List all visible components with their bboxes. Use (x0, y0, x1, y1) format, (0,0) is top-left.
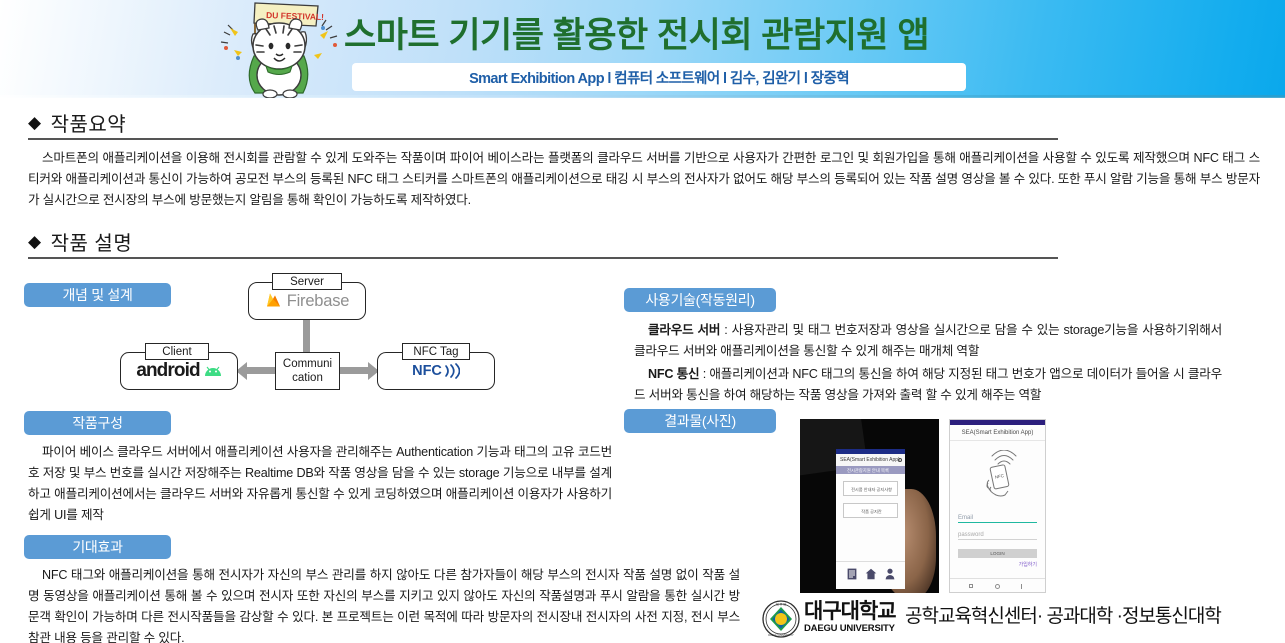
photo1-button-works[interactable]: 작품 공지란 (843, 503, 898, 518)
communication-line2: cation (292, 372, 323, 384)
poster-header: DU FESTIVAL! (0, 0, 1285, 97)
mascot-tiger-icon: DU FESTIVAL! (208, 0, 360, 98)
diagram-arrow-right (340, 367, 368, 374)
photo2-password-field[interactable]: password (958, 532, 1037, 540)
diamond-bullet-icon: ◆ (28, 114, 42, 131)
photo2-password-placeholder: password (958, 532, 1037, 539)
recents-icon[interactable] (1021, 584, 1022, 589)
subtitle-bar: Smart Exhibition App l 컴퓨터 소프트웨어 l 김수, 김… (352, 63, 966, 91)
firebase-icon (265, 292, 282, 311)
used-tech-term-1: 클라우드 서버 (648, 323, 720, 337)
footer-departments: 공학교육혁신센터· 공과대학 ·정보통신대학 (905, 601, 1221, 628)
nfc-waves-icon (443, 363, 460, 379)
photo2-email-placeholder: Email (958, 515, 1037, 522)
label-results-photo: 결과물(사진) (624, 409, 776, 433)
footer-university-name-en: DAEGU UNIVERSITY (804, 623, 895, 634)
used-tech-item-1: 클라우드 서버 : 사용자관리 및 태그 번호저장과 영상을 실시간으로 담을 … (634, 320, 1222, 362)
expected-effect-paragraph: NFC 태그와 애플리케이션을 통해 전시자가 자신의 부스 관리를 하지 않아… (28, 565, 740, 643)
diagram-node-client-label: android (136, 360, 199, 382)
diagram-cap-server: Server (272, 273, 342, 290)
daegu-university-logo-icon: 대 구 대 DAEGU UNIVERSITY (762, 600, 800, 638)
android-robot-icon (204, 366, 222, 377)
diagram-node-nfc-label: NFC (412, 363, 442, 379)
svg-text:DAEGU UNIVERSITY: DAEGU UNIVERSITY (768, 633, 794, 637)
photo1-button-notice[interactable]: 전시품 안내자 공지사항 (843, 481, 898, 496)
diagram-arrow-left (247, 367, 275, 374)
section-heading-description: ◆ 작품 설명 (28, 227, 132, 256)
home-icon[interactable] (865, 568, 877, 580)
photo1-bottom-nav (836, 561, 905, 589)
photo2-login-button[interactable]: LOGIN (958, 549, 1037, 558)
diagram-cap-client: Client (145, 343, 209, 360)
svg-text:대 구 대: 대 구 대 (776, 602, 786, 607)
architecture-diagram: Firebase Server Communi cation android (95, 268, 615, 403)
diagram-node-server-label: Firebase (287, 292, 350, 311)
diagram-cap-nfc-tag: NFC Tag (402, 343, 470, 360)
photo2-signup-link[interactable]: 가입하기 (1019, 561, 1037, 568)
footer-university-name-ko: 대구대학교 (804, 600, 896, 624)
label-used-tech-text: 사용기술(작동원리) (645, 290, 754, 310)
section-rule-description (28, 257, 1058, 259)
section-heading-summary: ◆ 작품요약 (28, 108, 126, 137)
label-work-composition: 작품구성 (24, 411, 171, 435)
nfc-phone-illustration-icon: NFC (975, 450, 1023, 502)
label-expected-effect: 기대효과 (24, 535, 171, 559)
photo1-app-title: SEA(Smart Exhibition App) (840, 457, 900, 463)
result-photo-login: SEA(Smart Exhibition App) NFC Email pass… (949, 419, 1046, 593)
work-composition-paragraph: 파이어 베이스 클라우드 서버에서 애플리케이션 사용자을 관리해주는 Auth… (28, 442, 612, 526)
photo2-email-field[interactable]: Email (958, 515, 1037, 523)
summary-paragraph: 스마트폰의 애플리케이션을 이용해 전시회를 관람할 수 있게 도와주는 작품이… (28, 148, 1260, 211)
label-expected-effect-text: 기대효과 (72, 537, 122, 557)
diamond-bullet-icon: ◆ (28, 233, 42, 250)
result-photo-device: SEA(Smart Exhibition App) 전시관람지원 안내 목록 전… (800, 419, 939, 593)
photo1-titlebar: SEA(Smart Exhibition App) (836, 454, 905, 466)
diagram-connector-vertical (303, 320, 310, 354)
photo1-phone-screen: SEA(Smart Exhibition App) 전시관람지원 안내 목록 전… (836, 449, 905, 589)
photo1-section-bar: 전시관람지원 안내 목록 (836, 466, 905, 474)
photo1-section-bar-text: 전시관람지원 안내 목록 (847, 468, 889, 474)
communication-line1: Communi (283, 358, 332, 370)
section-heading-description-label: 작품 설명 (51, 227, 133, 256)
poster-root: DU FESTIVAL! (0, 0, 1285, 643)
section-rule-summary (28, 138, 1058, 140)
label-work-composition-text: 작품구성 (72, 413, 122, 433)
page-title: 스마트 기기를 활용한 전시회 관람지원 앱 (344, 8, 1104, 64)
diagram-node-communication: Communi cation (275, 352, 340, 390)
photo2-titlebar: SEA(Smart Exhibition App) (950, 425, 1045, 441)
back-icon[interactable] (969, 584, 973, 588)
home-circle-icon[interactable] (995, 584, 1000, 589)
label-used-tech: 사용기술(작동원리) (624, 288, 776, 312)
used-tech-term-2: NFC 통신 (648, 367, 699, 381)
section-heading-summary-label: 작품요약 (51, 108, 127, 137)
subtitle-text: Smart Exhibition App l 컴퓨터 소프트웨어 l 김수, 김… (469, 67, 849, 88)
photo2-system-navbar (950, 578, 1045, 592)
label-results-photo-text: 결과물(사진) (664, 411, 736, 431)
used-tech-item-2: NFC 통신 : 애플리케이션과 NFC 태그의 통신을 하여 해당 지정된 태… (634, 364, 1222, 406)
photo2-app-title: SEA(Smart Exhibition App) (950, 430, 1045, 436)
gear-icon[interactable] (898, 458, 902, 462)
header-underline (0, 95, 1285, 98)
person-icon[interactable] (885, 568, 895, 580)
list-icon[interactable] (847, 568, 857, 580)
